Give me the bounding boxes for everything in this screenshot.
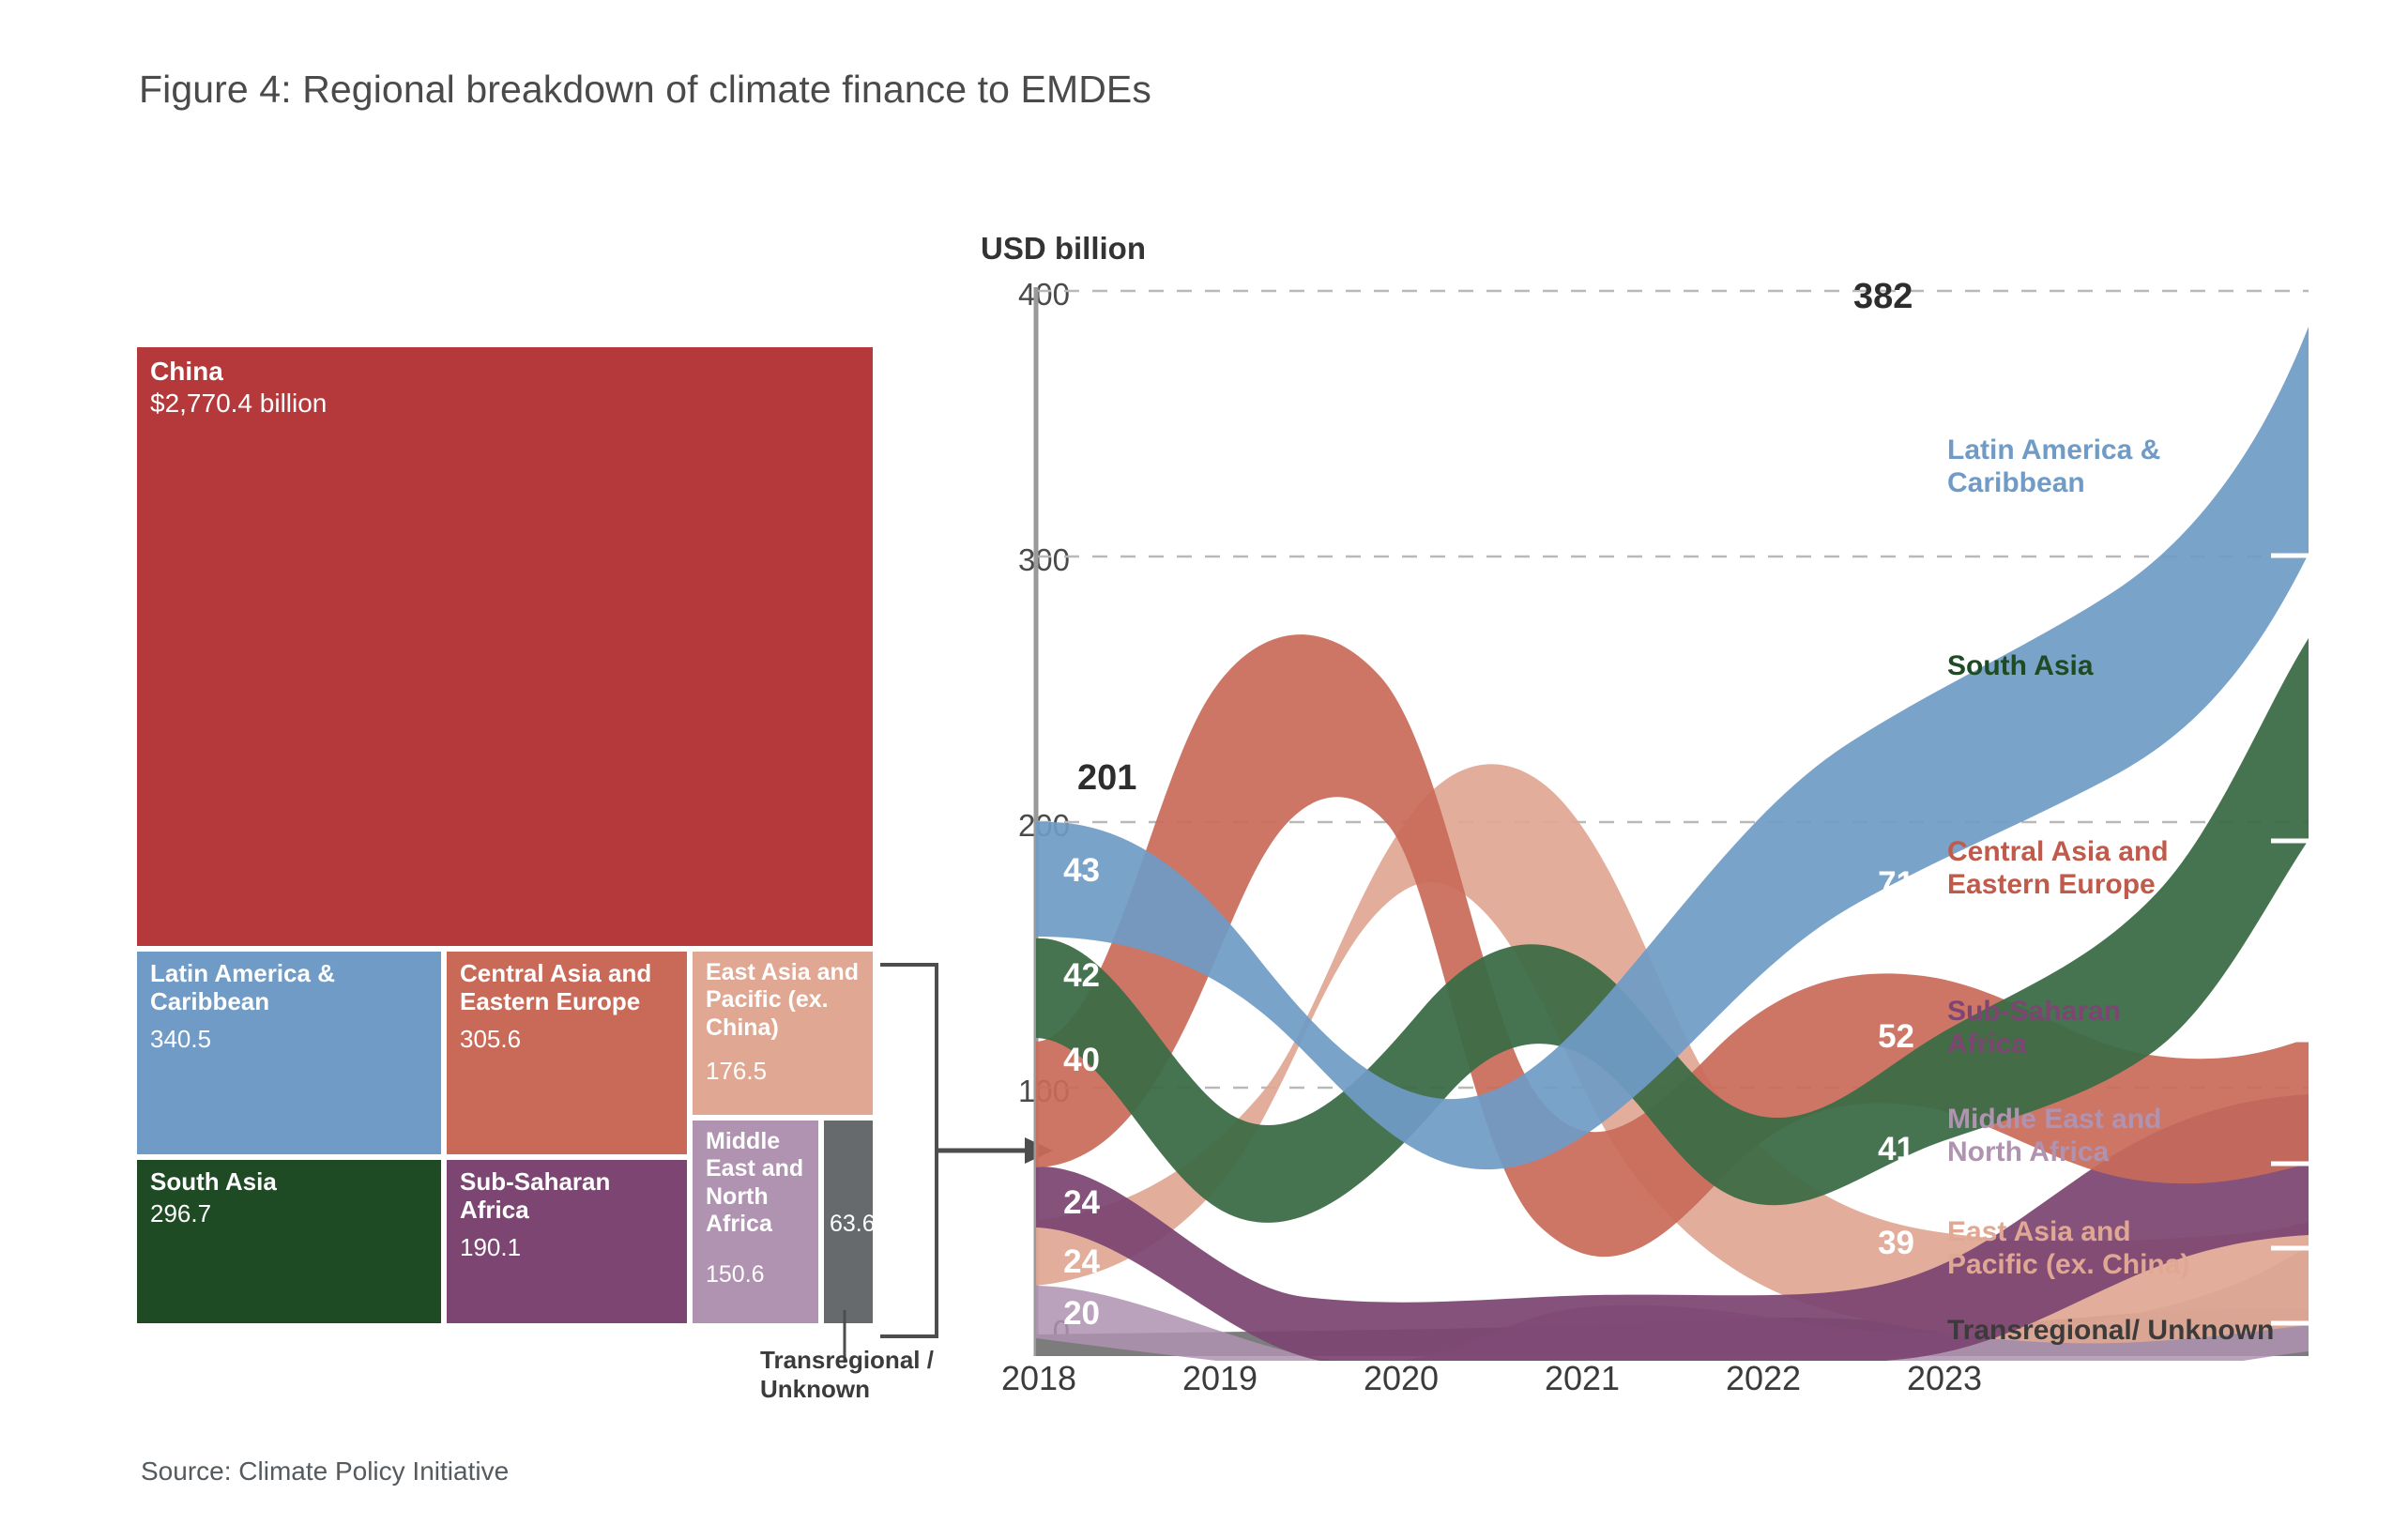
treemap-tile-latin-america[interactable]: Latin America & Caribbean 340.5 (134, 949, 444, 1157)
xtick-2018: 2018 (959, 1359, 1119, 1398)
stream-chart-plot (976, 225, 2355, 1361)
tile-value-latin-america: 340.5 (150, 1025, 437, 1053)
tile-value-east-asia: 176.5 (706, 1057, 869, 1085)
tile-label-mena: Middle East and North Africa (706, 1128, 815, 1238)
treemap-tile-central-asia[interactable]: Central Asia and Eastern Europe 305.6 (444, 949, 690, 1157)
tile-label-central-asia: Central Asia and Eastern Europe (460, 959, 683, 1016)
treemap-tile-sub-saharan[interactable]: Sub-Saharan Africa 190.1 (444, 1157, 690, 1326)
tile-label-south-asia: South Asia (150, 1167, 437, 1196)
tile-value-transregional: 63.6 (830, 1211, 869, 1238)
stream-total-2023: 382 (1853, 277, 1913, 317)
stream-total-2018: 201 (1077, 758, 1136, 799)
legend-south-asia: South Asia (1947, 649, 2094, 682)
value-2023-mena: 41 (1839, 1131, 1914, 1168)
value-2018-south-asia: 42 (1032, 957, 1100, 995)
value-2018-sub-saharan: 24 (1032, 1243, 1100, 1281)
treemap-tile-south-asia[interactable]: South Asia 296.7 (134, 1157, 444, 1326)
tile-value-central-asia: 305.6 (460, 1025, 683, 1053)
xtick-2020: 2020 (1321, 1359, 1481, 1398)
legend-east-asia: East Asia and Pacific (ex. China) (1947, 1215, 2229, 1282)
value-2023-east-asia: 39 (1839, 1225, 1914, 1262)
tile-label-east-asia: East Asia and Pacific (ex. China) (706, 959, 869, 1042)
legend-sub-saharan: Sub-Saharan Africa (1947, 995, 2163, 1061)
value-2023-south-asia: 76 (1839, 671, 1914, 709)
xtick-2023: 2023 (1865, 1359, 2024, 1398)
value-2023-central-asia: 71 (1839, 865, 1914, 903)
figure-root: Figure 4: Regional breakdown of climate … (0, 0, 2393, 1540)
legend-latin-america: Latin America & Caribbean (1947, 434, 2201, 500)
tile-label-latin-america: Latin America & Caribbean (150, 959, 437, 1016)
tile-value-mena: 150.6 (706, 1261, 815, 1288)
treemap-panel: China $2,770.4 billion Latin America & C… (134, 344, 876, 1326)
tile-label-sub-saharan: Sub-Saharan Africa (460, 1167, 683, 1225)
figure-title: Figure 4: Regional breakdown of climate … (139, 68, 1151, 112)
legend-central-asia: Central Asia and Eastern Europe (1947, 835, 2201, 902)
xtick-2021: 2021 (1502, 1359, 1662, 1398)
transregional-callout-label: Transregional / Unknown (760, 1346, 948, 1404)
tile-label-china: China (150, 357, 869, 388)
value-2023-latin-america: 86 (1839, 449, 1914, 486)
xtick-2022: 2022 (1684, 1359, 1843, 1398)
value-2018-central-asia: 40 (1032, 1042, 1100, 1079)
treemap-tile-china[interactable]: China $2,770.4 billion (134, 344, 876, 949)
tile-value-china: $2,770.4 billion (150, 389, 869, 419)
value-2018-east-asia: 24 (1032, 1184, 1100, 1222)
value-2018-mena: 20 (1032, 1295, 1100, 1333)
xtick-2019: 2019 (1140, 1359, 1300, 1398)
treemap-tile-transregional[interactable]: 63.6 (821, 1118, 876, 1326)
legend-mena: Middle East and North Africa (1947, 1103, 2210, 1169)
tile-value-south-asia: 296.7 (150, 1199, 437, 1227)
tile-value-sub-saharan: 190.1 (460, 1233, 683, 1261)
treemap-tile-east-asia[interactable]: East Asia and Pacific (ex. China) 176.5 (690, 949, 876, 1118)
value-2018-latin-america: 43 (1032, 852, 1100, 890)
value-2023-sub-saharan: 52 (1839, 1018, 1914, 1056)
source-note: Source: Climate Policy Initiative (141, 1456, 509, 1487)
treemap-tile-mena[interactable]: Middle East and North Africa 150.6 (690, 1118, 821, 1326)
legend-transregional: Transregional/ Unknown (1947, 1314, 2274, 1347)
